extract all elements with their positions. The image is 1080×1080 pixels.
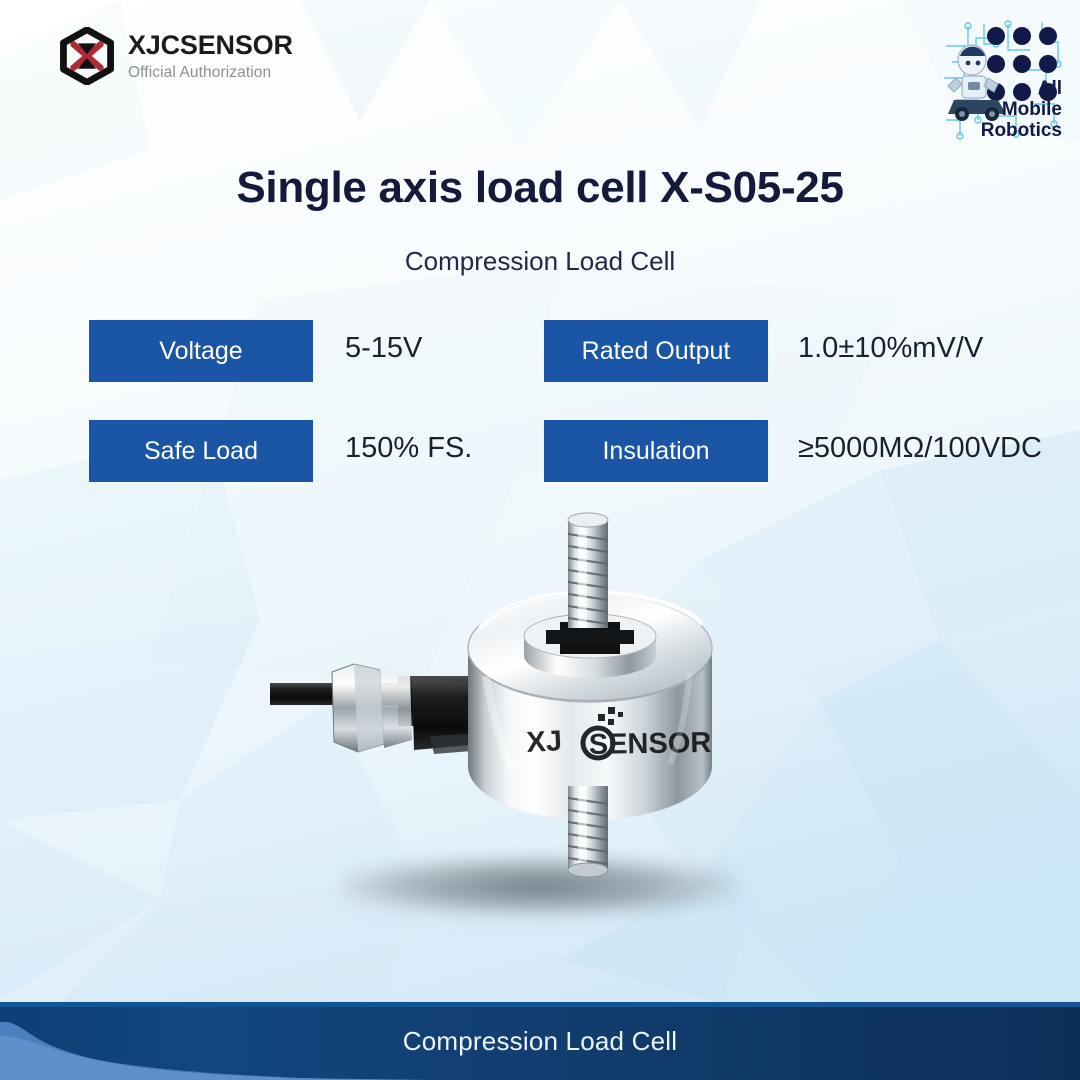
spec-label: Voltage: [89, 320, 313, 382]
spec-label: Safe Load: [89, 420, 313, 482]
spec-item-rated-output: Rated Output 1.0±10%mV/V: [544, 320, 983, 382]
spec-value: ≥5000MΩ/100VDC: [798, 420, 1042, 465]
spec-label: Insulation: [544, 420, 768, 482]
spec-item-voltage: Voltage 5-15V: [89, 320, 422, 382]
svg-text:XJ: XJ: [526, 725, 563, 759]
spec-item-insulation: Insulation ≥5000MΩ/100VDC: [544, 420, 1042, 482]
page-header: XJCSENSOR Official Authorization: [0, 0, 1080, 150]
product-promo-page: XJCSENSOR Official Authorization: [0, 0, 1080, 1080]
footer-caption: Compression Load Cell: [0, 1002, 1080, 1080]
xjc-hexagon-x-logo-icon: [58, 27, 116, 85]
spec-label: Rated Output: [544, 320, 768, 382]
partner-logo-line2: Mobile: [1002, 99, 1062, 120]
brand-name: XJCSENSOR: [128, 32, 293, 59]
spec-item-safe-load: Safe Load 150% FS.: [89, 420, 472, 482]
spec-value: 5-15V: [345, 320, 422, 365]
page-subtitle: Compression Load Cell: [0, 246, 1080, 277]
partner-logo-line3: Robotics: [981, 120, 1062, 141]
spec-value: 150% FS.: [345, 420, 472, 465]
page-title: Single axis load cell X-S05-25: [0, 163, 1080, 213]
spec-value: 1.0±10%mV/V: [798, 320, 983, 365]
cable-gland-nut: [332, 664, 412, 752]
bottom-threaded-stud: [568, 786, 608, 872]
spec-row: Safe Load 150% FS. Insulation ≥5000MΩ/10…: [0, 420, 1080, 520]
top-threaded-stud: [568, 518, 608, 630]
svg-text:SENSOR: SENSOR: [589, 727, 712, 761]
spec-row: Voltage 5-15V Rated Output 1.0±10%mV/V: [0, 320, 1080, 420]
partner-logo-line1: All: [1038, 78, 1062, 99]
spec-grid: Voltage 5-15V Rated Output 1.0±10%mV/V S…: [0, 320, 1080, 520]
brand-tagline: Official Authorization: [128, 65, 293, 81]
all-mobile-robotics-logo-icon: All Mobile Robotics: [938, 16, 1066, 144]
product-image: XJ SENSOR: [0, 500, 1080, 930]
brand-logo: XJCSENSOR Official Authorization: [58, 27, 293, 85]
page-footer: Compression Load Cell: [0, 1002, 1080, 1080]
